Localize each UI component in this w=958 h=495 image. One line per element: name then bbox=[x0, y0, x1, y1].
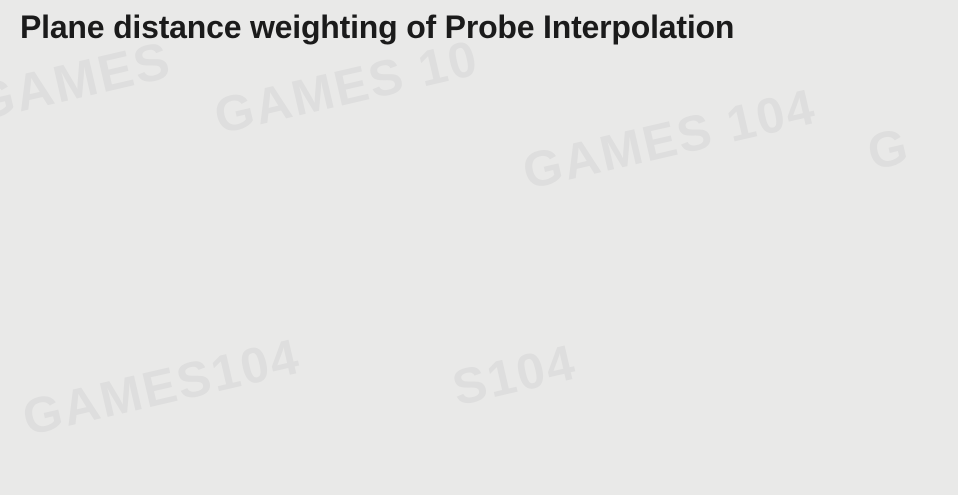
slide-root: GAMES GAMES 10 GAMES 104 GAMES104 S104 G… bbox=[0, 0, 958, 495]
slide-title: Plane distance weighting of Probe Interp… bbox=[20, 6, 920, 48]
plane-distance-diagram bbox=[528, 160, 958, 490]
plane-distance-canvas bbox=[528, 160, 958, 490]
probe-grid-diagram bbox=[110, 143, 454, 493]
probe-grid-canvas bbox=[110, 143, 454, 493]
